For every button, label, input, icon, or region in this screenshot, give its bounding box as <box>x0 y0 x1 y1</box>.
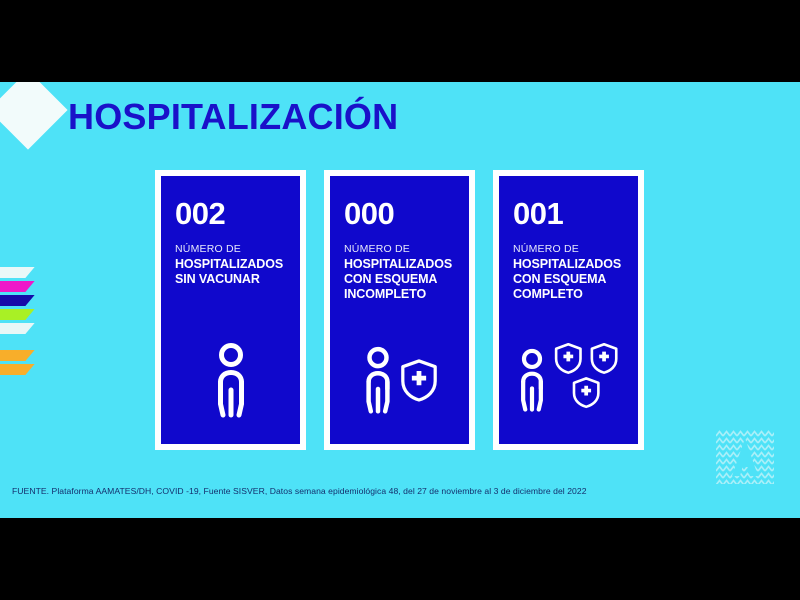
chevron-stripe-orange-icon <box>0 350 35 361</box>
chevron-stripe-green-icon <box>0 309 35 320</box>
stat-value: 000 <box>344 198 455 229</box>
chevron-large-icon <box>0 82 68 150</box>
chevron-stripe-orange-2-icon <box>0 364 35 375</box>
shield-cross-group-icon <box>552 341 622 419</box>
letterbox-bottom <box>0 518 800 600</box>
person-icon <box>212 342 250 418</box>
stat-value: 001 <box>513 198 624 229</box>
chevron-stripe-magenta-icon <box>0 281 35 292</box>
watermark-logo-icon <box>716 430 774 484</box>
stat-illustration <box>330 328 469 432</box>
person-icon <box>516 347 548 413</box>
stat-card-group: 002 NÚMERO DE HOSPITALIZADOS SIN VACUNAR <box>155 170 644 450</box>
stat-card-incomplete-scheme: 000 NÚMERO DE HOSPITALIZADOS CON ESQUEMA… <box>324 170 475 450</box>
stat-value: 002 <box>175 198 286 229</box>
stat-card-body: 001 NÚMERO DE HOSPITALIZADOS CON ESQUEMA… <box>499 176 638 444</box>
person-icon <box>361 345 395 415</box>
source-note: FUENTE. Plataforma AAMATES/DH, COVID -19… <box>12 486 587 496</box>
stat-card-body: 002 NÚMERO DE HOSPITALIZADOS SIN VACUNAR <box>161 176 300 444</box>
page-title: HOSPITALIZACIÓN <box>68 96 398 138</box>
chevron-stripe-white-icon <box>0 323 35 334</box>
stat-illustration <box>499 328 638 432</box>
stat-label: HOSPITALIZADOS CON ESQUEMA INCOMPLETO <box>344 257 455 301</box>
stat-eyebrow: NÚMERO DE <box>513 243 624 256</box>
shield-cross-icon <box>399 358 439 402</box>
stat-card-unvaccinated: 002 NÚMERO DE HOSPITALIZADOS SIN VACUNAR <box>155 170 306 450</box>
stat-eyebrow: NÚMERO DE <box>175 243 286 256</box>
chevron-stripe-blue-icon <box>0 295 35 306</box>
stat-label: HOSPITALIZADOS SIN VACUNAR <box>175 257 286 287</box>
stat-label: HOSPITALIZADOS CON ESQUEMA COMPLETO <box>513 257 624 301</box>
stat-card-body: 000 NÚMERO DE HOSPITALIZADOS CON ESQUEMA… <box>330 176 469 444</box>
stat-illustration <box>161 328 300 432</box>
chevron-stripe-icon <box>0 267 35 278</box>
slide-stage: HOSPITALIZACIÓN 002 NÚMERO DE HOSPITALIZ… <box>0 0 800 600</box>
stat-eyebrow: NÚMERO DE <box>344 243 455 256</box>
slide-canvas: HOSPITALIZACIÓN 002 NÚMERO DE HOSPITALIZ… <box>0 82 800 518</box>
letterbox-top <box>0 0 800 82</box>
stat-card-complete-scheme: 001 NÚMERO DE HOSPITALIZADOS CON ESQUEMA… <box>493 170 644 450</box>
